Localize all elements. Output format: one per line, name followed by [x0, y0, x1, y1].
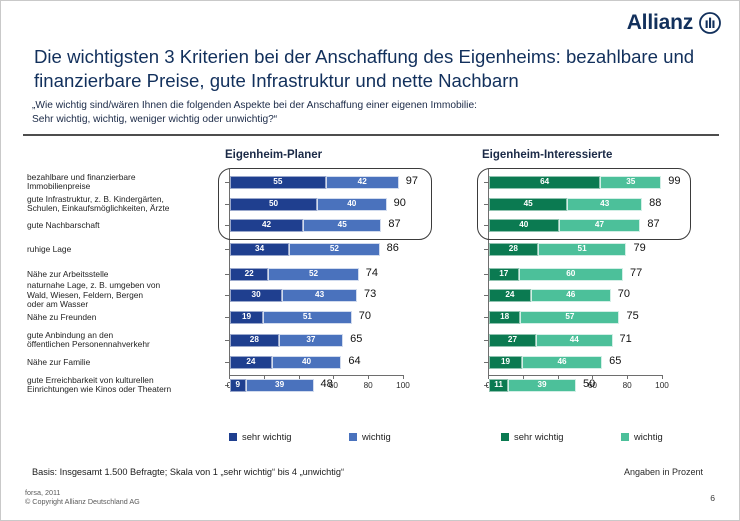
bar-segment-wichtig: 43	[567, 198, 642, 211]
bar-row: 345286	[230, 243, 380, 256]
x-tick-label: 100	[396, 381, 410, 390]
bar-row: 285179	[489, 243, 626, 256]
source-note: forsa, 2011 © Copyright Allianz Deutschl…	[25, 488, 140, 506]
bar-row: 225274	[230, 268, 359, 281]
y-tick	[484, 317, 488, 318]
bar-segment-sehr-wichtig: 19	[489, 356, 522, 369]
chart-title-planer: Eigenheim-Planer	[225, 149, 322, 161]
y-tick	[225, 362, 229, 363]
bar-row: 424587	[230, 219, 381, 232]
bar-segment-sehr-wichtig: 30	[230, 289, 282, 302]
bar-row: 185775	[489, 311, 620, 324]
x-tick-label: 80	[623, 381, 632, 390]
units-note: Angaben in Prozent	[624, 467, 703, 477]
bar-segment-wichtig: 43	[282, 289, 357, 302]
chart-eigenheim-planer: 0204060801005542975040904245873452862252…	[229, 169, 433, 397]
y-tick	[484, 225, 488, 226]
legend-label: wichtig	[362, 431, 391, 442]
bar-segment-sehr-wichtig: 40	[489, 219, 559, 232]
brand-name: Allianz	[627, 11, 693, 35]
y-tick	[225, 274, 229, 275]
bar-total-value: 87	[388, 218, 400, 230]
bar-segment-wichtig: 46	[522, 356, 602, 369]
y-tick	[225, 225, 229, 226]
bar-total-value: 70	[359, 310, 371, 322]
legend-label: sehr wichtig	[514, 431, 564, 442]
subtitle-line-1: „Wie wichtig sind/wären Ihnen die folgen…	[32, 99, 712, 113]
y-tick	[484, 295, 488, 296]
allianz-logo: Allianz	[627, 11, 721, 35]
category-label: Nähe zu Freunden	[27, 313, 213, 323]
bar-segment-wichtig: 37	[279, 334, 343, 347]
bar-total-value: 65	[609, 355, 621, 367]
y-tick	[484, 340, 488, 341]
category-label: gute Infrastruktur, z. B. Kindergärten,S…	[27, 195, 213, 214]
bar-row: 244670	[489, 289, 611, 302]
legend-swatch-light-blue	[349, 433, 357, 441]
slide: Allianz Die wichtigsten 3 Kriterien bei …	[0, 0, 740, 521]
plot-area: 0204060801006435994543884047872851791760…	[488, 169, 692, 375]
bar-segment-sehr-wichtig: 27	[489, 334, 536, 347]
bar-segment-wichtig: 42	[326, 176, 399, 189]
x-tick-label: 80	[364, 381, 373, 390]
y-tick	[484, 249, 488, 250]
legend-swatch-dark-blue	[229, 433, 237, 441]
category-label: gute Erreichbarkeit von kulturellenEinri…	[27, 376, 213, 395]
y-tick	[484, 362, 488, 363]
bar-segment-wichtig: 40	[272, 356, 342, 369]
bar-row: 195170	[230, 311, 352, 324]
bar-segment-wichtig: 57	[520, 311, 619, 324]
x-tick	[403, 375, 404, 379]
bar-segment-wichtig: 52	[268, 268, 358, 281]
header-divider	[23, 134, 719, 136]
page-subtitle: „Wie wichtig sind/wären Ihnen die folgen…	[32, 99, 712, 127]
bar-row: 176077	[489, 268, 623, 281]
bar-segment-wichtig: 60	[519, 268, 623, 281]
legend-label: wichtig	[634, 431, 663, 442]
bar-total-value: 48	[321, 378, 333, 390]
bar-total-value: 87	[647, 218, 659, 230]
bar-row: 554297	[230, 176, 399, 189]
y-tick	[484, 204, 488, 205]
category-label: bezahlbare und finanzierbareImmobilienpr…	[27, 173, 213, 192]
bar-segment-wichtig: 39	[508, 379, 576, 392]
chart-title-interessierte: Eigenheim-Interessierte	[482, 149, 612, 161]
bar-row: 274471	[489, 334, 613, 347]
bar-segment-sehr-wichtig: 50	[230, 198, 317, 211]
legend-label: sehr wichtig	[242, 431, 292, 442]
bar-segment-sehr-wichtig: 42	[230, 219, 303, 232]
bar-total-value: 75	[627, 310, 639, 322]
bar-segment-wichtig: 39	[246, 379, 314, 392]
x-tick	[333, 375, 334, 379]
bar-total-value: 70	[618, 288, 630, 300]
bar-row: 504090	[230, 198, 387, 211]
y-tick	[225, 249, 229, 250]
category-label: Nähe zur Arbeitsstelle	[27, 270, 213, 280]
bar-segment-wichtig: 35	[600, 176, 661, 189]
legend-swatch-dark-green	[501, 433, 509, 441]
x-axis	[488, 375, 662, 376]
category-label: gute Anbindung an denöffentlichen Person…	[27, 331, 213, 350]
y-tick	[225, 340, 229, 341]
bar-total-value: 79	[633, 242, 645, 254]
page-title: Die wichtigsten 3 Kriterien bei der Ansc…	[34, 45, 706, 93]
bar-segment-sehr-wichtig: 22	[230, 268, 268, 281]
bar-segment-sehr-wichtig: 18	[489, 311, 520, 324]
bar-segment-sehr-wichtig: 55	[230, 176, 326, 189]
bar-row: 304373	[230, 289, 357, 302]
y-tick	[225, 182, 229, 183]
x-tick-label: 100	[655, 381, 669, 390]
x-axis	[229, 375, 403, 376]
bar-row: 454388	[489, 198, 642, 211]
bar-total-value: 99	[668, 175, 680, 187]
bar-total-value: 77	[630, 267, 642, 279]
bar-total-value: 64	[348, 355, 360, 367]
bar-total-value: 50	[583, 378, 595, 390]
bar-segment-sehr-wichtig: 28	[489, 243, 538, 256]
bar-segment-sehr-wichtig: 9	[230, 379, 246, 392]
bar-segment-wichtig: 47	[559, 219, 641, 232]
category-label: naturnahe Lage, z. B. umgeben vonWald, W…	[27, 281, 213, 310]
legend-left-sehr-wichtig: sehr wichtig	[229, 431, 292, 442]
bar-segment-wichtig: 44	[536, 334, 613, 347]
x-tick	[662, 375, 663, 379]
y-tick	[484, 274, 488, 275]
source-line-1: forsa, 2011	[25, 488, 140, 497]
bar-segment-wichtig: 46	[531, 289, 611, 302]
y-tick	[484, 182, 488, 183]
legend-left-wichtig: wichtig	[349, 431, 391, 442]
y-tick	[225, 317, 229, 318]
bar-row: 283765	[230, 334, 343, 347]
page-number: 6	[710, 493, 715, 503]
x-tick	[368, 375, 369, 379]
bar-total-value: 74	[366, 267, 378, 279]
category-label: Nähe zur Familie	[27, 358, 213, 368]
category-label: gute Nachbarschaft	[27, 221, 213, 231]
legend-right-sehr-wichtig: sehr wichtig	[501, 431, 564, 442]
y-tick	[225, 295, 229, 296]
bar-total-value: 97	[406, 175, 418, 187]
category-label: ruhige Lage	[27, 245, 213, 255]
bar-total-value: 86	[387, 242, 399, 254]
bar-row: 113950	[489, 379, 576, 392]
bar-total-value: 73	[364, 288, 376, 300]
bar-row: 643599	[489, 176, 661, 189]
bar-segment-wichtig: 51	[538, 243, 627, 256]
bar-segment-sehr-wichtig: 24	[230, 356, 272, 369]
bar-segment-sehr-wichtig: 34	[230, 243, 289, 256]
bar-row: 244064	[230, 356, 341, 369]
bar-total-value: 88	[649, 197, 661, 209]
bar-segment-sehr-wichtig: 11	[489, 379, 508, 392]
bar-segment-sehr-wichtig: 19	[230, 311, 263, 324]
bar-segment-sehr-wichtig: 24	[489, 289, 531, 302]
legend-swatch-light-green	[621, 433, 629, 441]
bar-segment-sehr-wichtig: 64	[489, 176, 600, 189]
legend-right-wichtig: wichtig	[621, 431, 663, 442]
chart-eigenheim-interessierte: 0204060801006435994543884047872851791760…	[488, 169, 692, 397]
bar-row: 93948	[230, 379, 314, 392]
bar-total-value: 90	[394, 197, 406, 209]
bar-segment-sehr-wichtig: 45	[489, 198, 567, 211]
bar-row: 194665	[489, 356, 602, 369]
subtitle-line-2: Sehr wichtig, wichtig, weniger wichtig o…	[32, 113, 712, 127]
y-tick	[225, 204, 229, 205]
bar-row: 404787	[489, 219, 640, 232]
bar-segment-sehr-wichtig: 17	[489, 268, 519, 281]
source-line-2: © Copyright Allianz Deutschland AG	[25, 497, 140, 506]
bar-total-value: 65	[350, 333, 362, 345]
plot-area: 0204060801005542975040904245873452862252…	[229, 169, 433, 375]
bar-segment-sehr-wichtig: 28	[230, 334, 279, 347]
basis-note: Basis: Insgesamt 1.500 Befragte; Skala v…	[32, 467, 344, 477]
bar-total-value: 71	[620, 333, 632, 345]
bar-segment-wichtig: 45	[303, 219, 381, 232]
bar-segment-wichtig: 52	[289, 243, 379, 256]
bar-segment-wichtig: 40	[317, 198, 387, 211]
x-tick	[627, 375, 628, 379]
bar-segment-wichtig: 51	[263, 311, 352, 324]
allianz-bars-icon	[699, 12, 721, 34]
